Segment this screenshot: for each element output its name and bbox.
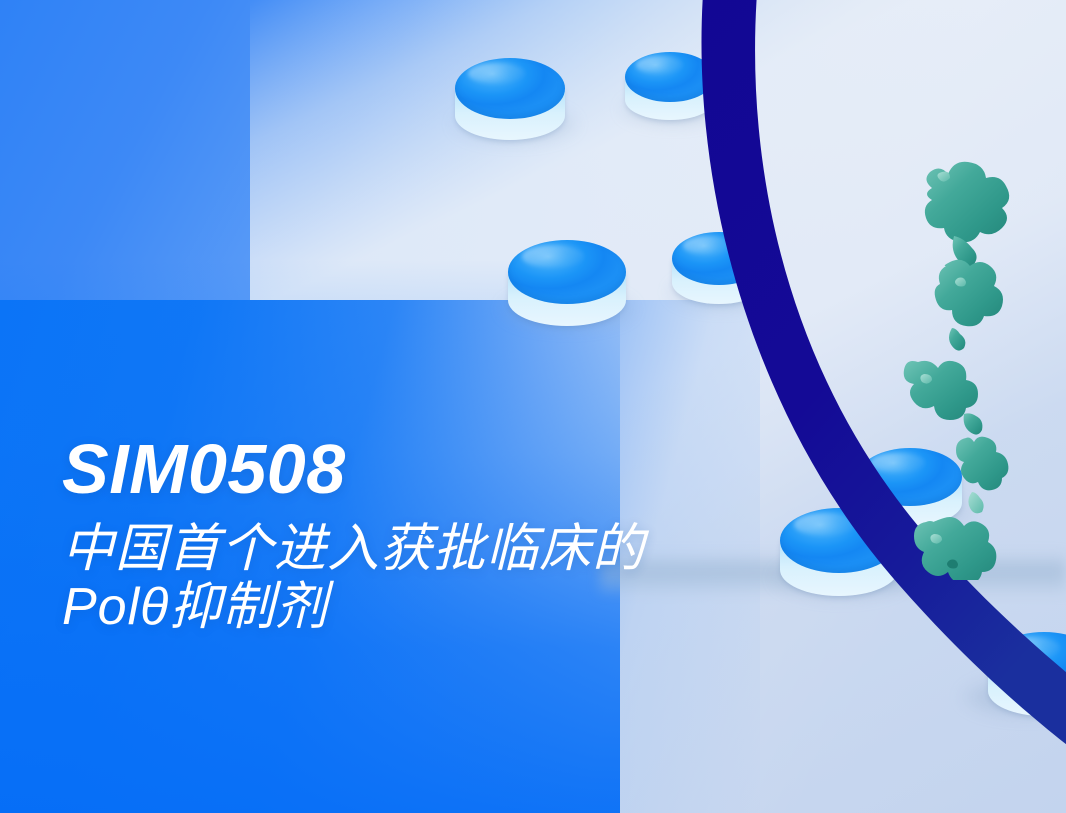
- page-title: SIM0508: [62, 434, 862, 504]
- poster-canvas: SIM0508 中国首个进入获批临床的 Polθ抑制剂: [0, 0, 1066, 813]
- title-block: SIM0508 中国首个进入获批临床的 Polθ抑制剂: [62, 434, 862, 636]
- protein-ribbon-structure: [880, 150, 1066, 580]
- protein-blobs: [904, 162, 1009, 580]
- subtitle-line-1: 中国首个进入获批临床的: [62, 520, 862, 578]
- subtitle-line-2: Polθ抑制剂: [62, 578, 862, 636]
